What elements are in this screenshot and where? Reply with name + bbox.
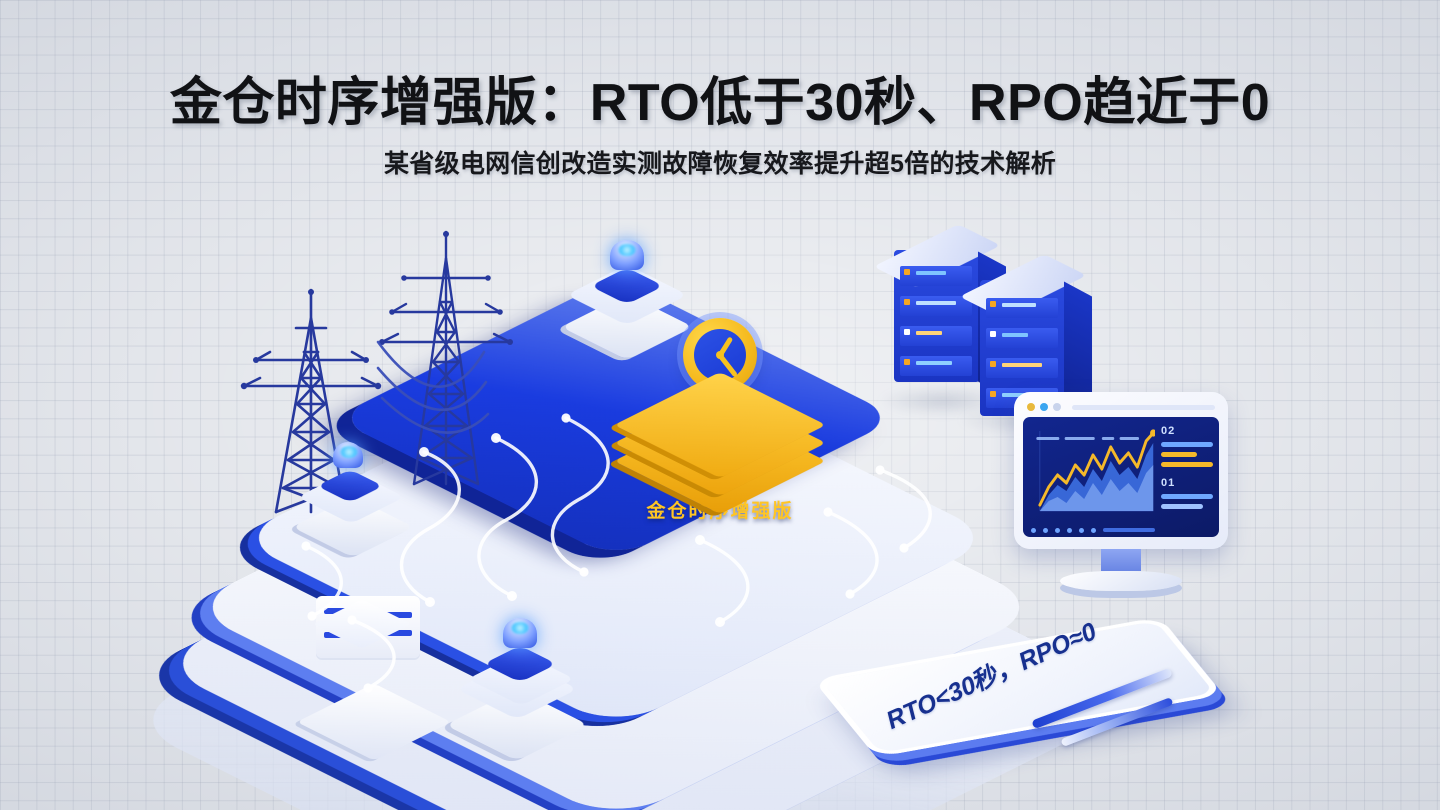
rack-bar [916, 361, 952, 365]
server-rack-left [894, 250, 980, 382]
window-dot-yellow [1027, 403, 1035, 411]
kpi-bar [1161, 442, 1213, 447]
dashboard-monitor: 02 01 [1014, 392, 1228, 591]
analytics-chart [1031, 425, 1155, 523]
rack-slot [986, 328, 1058, 348]
monitor-screen: 02 01 [1023, 417, 1219, 537]
kpi-bar [1161, 462, 1213, 467]
window-dot-blue [1040, 403, 1048, 411]
clock-center-pin [716, 351, 724, 359]
node-glow [340, 446, 358, 458]
window-dot-gray [1053, 403, 1061, 411]
power-line-cables [230, 226, 550, 526]
rack-slot [900, 356, 972, 376]
rack-led [904, 269, 910, 275]
monitor-timeline-dots [1031, 526, 1155, 534]
node-glow [511, 622, 529, 634]
monitor-kpi-panel: 02 01 [1161, 425, 1213, 529]
rack-slot [900, 296, 972, 316]
monitor-kpi-bottom: 01 [1161, 477, 1213, 489]
database-stack-icon [627, 386, 813, 478]
page-title: 金仓时序增强版：RTO低于30秒、RPO趋近于0 [0, 74, 1440, 132]
kpi-bar [1161, 494, 1213, 499]
rack-bar [1002, 303, 1036, 307]
rack-slot [986, 358, 1058, 378]
rack-bar [1002, 333, 1028, 337]
tablet-note: RTO<30秒，RPO≈0 [832, 598, 1204, 776]
monitor-base [1060, 571, 1182, 591]
poster-canvas: 金仓时序增强版：RTO低于30秒、RPO趋近于0 某省级电网信创改造实测故障恢复… [0, 0, 1440, 810]
heading-block: 金仓时序增强版：RTO低于30秒、RPO趋近于0 某省级电网信创改造实测故障恢复… [0, 74, 1440, 180]
core-emblem: 金仓时序增强版 [570, 318, 870, 523]
kpi-bar [1161, 504, 1203, 509]
rack-led [904, 299, 910, 305]
monitor-neck [1101, 549, 1141, 571]
rack-led [904, 359, 910, 365]
rack-slot [900, 266, 972, 286]
tablet-screen [812, 617, 1223, 758]
rack-led [990, 301, 996, 307]
kpi-bar [1161, 452, 1197, 457]
rack-led [904, 329, 910, 335]
rack-slot [900, 326, 972, 346]
rack-bar [916, 271, 946, 275]
rack-led [990, 331, 996, 337]
rack-led [990, 361, 996, 367]
page-subtitle: 某省级电网信创改造实测故障恢复效率提升超5倍的技术解析 [0, 144, 1440, 180]
rack-bar [916, 331, 942, 335]
rack-slot [986, 298, 1058, 318]
monitor-address-bar [1072, 405, 1215, 410]
node-glow [618, 244, 636, 256]
rack-bar [1002, 363, 1042, 367]
monitor-kpi-top: 02 [1161, 425, 1213, 437]
datacenter-building-icon [286, 586, 476, 726]
monitor-bezel: 02 01 [1014, 392, 1228, 549]
rack-led [990, 391, 996, 397]
monitor-window-chrome [1023, 401, 1219, 417]
rack-bar [916, 301, 956, 305]
